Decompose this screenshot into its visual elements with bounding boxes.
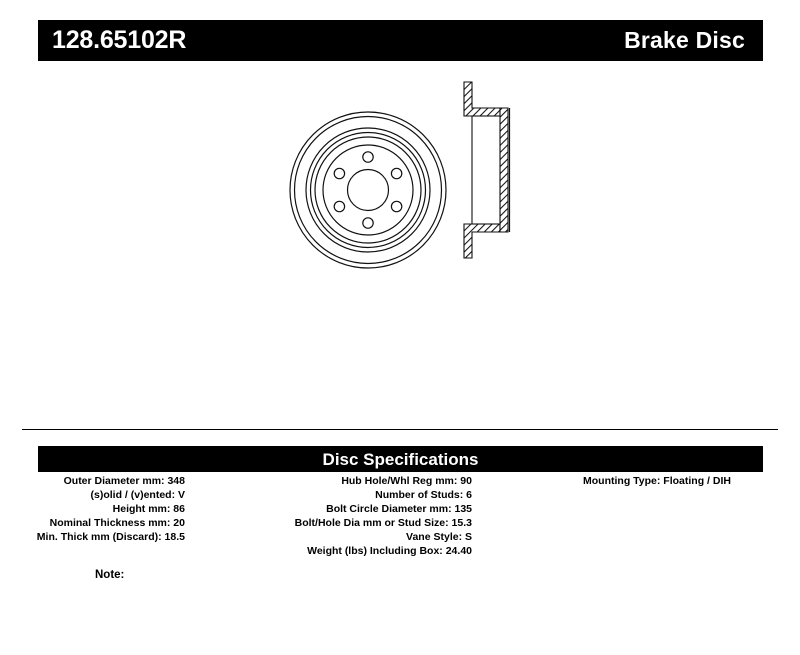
spec-row: Bolt/Hole Dia mm or Stud Size: 15.3 [0, 516, 472, 530]
spec-row: Vane Style: S [0, 530, 472, 544]
spec-row: Weight (lbs) Including Box: 24.40 [0, 544, 472, 558]
spec-row: Number of Studs: 6 [0, 488, 472, 502]
header-bar: 128.65102R Brake Disc [38, 20, 763, 61]
brake-rotor-cross-section-view [464, 82, 510, 258]
bolt-hole [391, 168, 401, 178]
spec-columns: Outer Diameter mm: 348 (s)olid / (v)ente… [0, 474, 800, 574]
spec-column-middle: Hub Hole/Whl Reg mm: 90 Number of Studs:… [0, 474, 472, 558]
bolt-holes [334, 152, 402, 228]
bolt-hole [391, 201, 401, 211]
part-number: 128.65102R [52, 28, 186, 53]
bolt-hole [334, 168, 344, 178]
spec-row: Mounting Type: Floating / DIH [583, 474, 731, 488]
drawing-canvas [0, 72, 800, 412]
spec-title-bar: Disc Specifications [38, 446, 763, 472]
spec-column-right: Mounting Type: Floating / DIH [583, 474, 731, 488]
technical-drawing [0, 72, 800, 412]
product-title: Brake Disc [624, 29, 745, 52]
note-label: Note: [95, 570, 124, 582]
bolt-hole [334, 201, 344, 211]
spec-row: Hub Hole/Whl Reg mm: 90 [0, 474, 472, 488]
spec-section-title: Disc Specifications [323, 451, 479, 468]
section-divider [22, 429, 778, 430]
brake-rotor-face-view [290, 112, 446, 268]
spec-sheet-page: 128.65102R Brake Disc [0, 0, 800, 655]
spec-row: Bolt Circle Diameter mm: 135 [0, 502, 472, 516]
bolt-hole [363, 218, 373, 228]
bolt-hole [363, 152, 373, 162]
